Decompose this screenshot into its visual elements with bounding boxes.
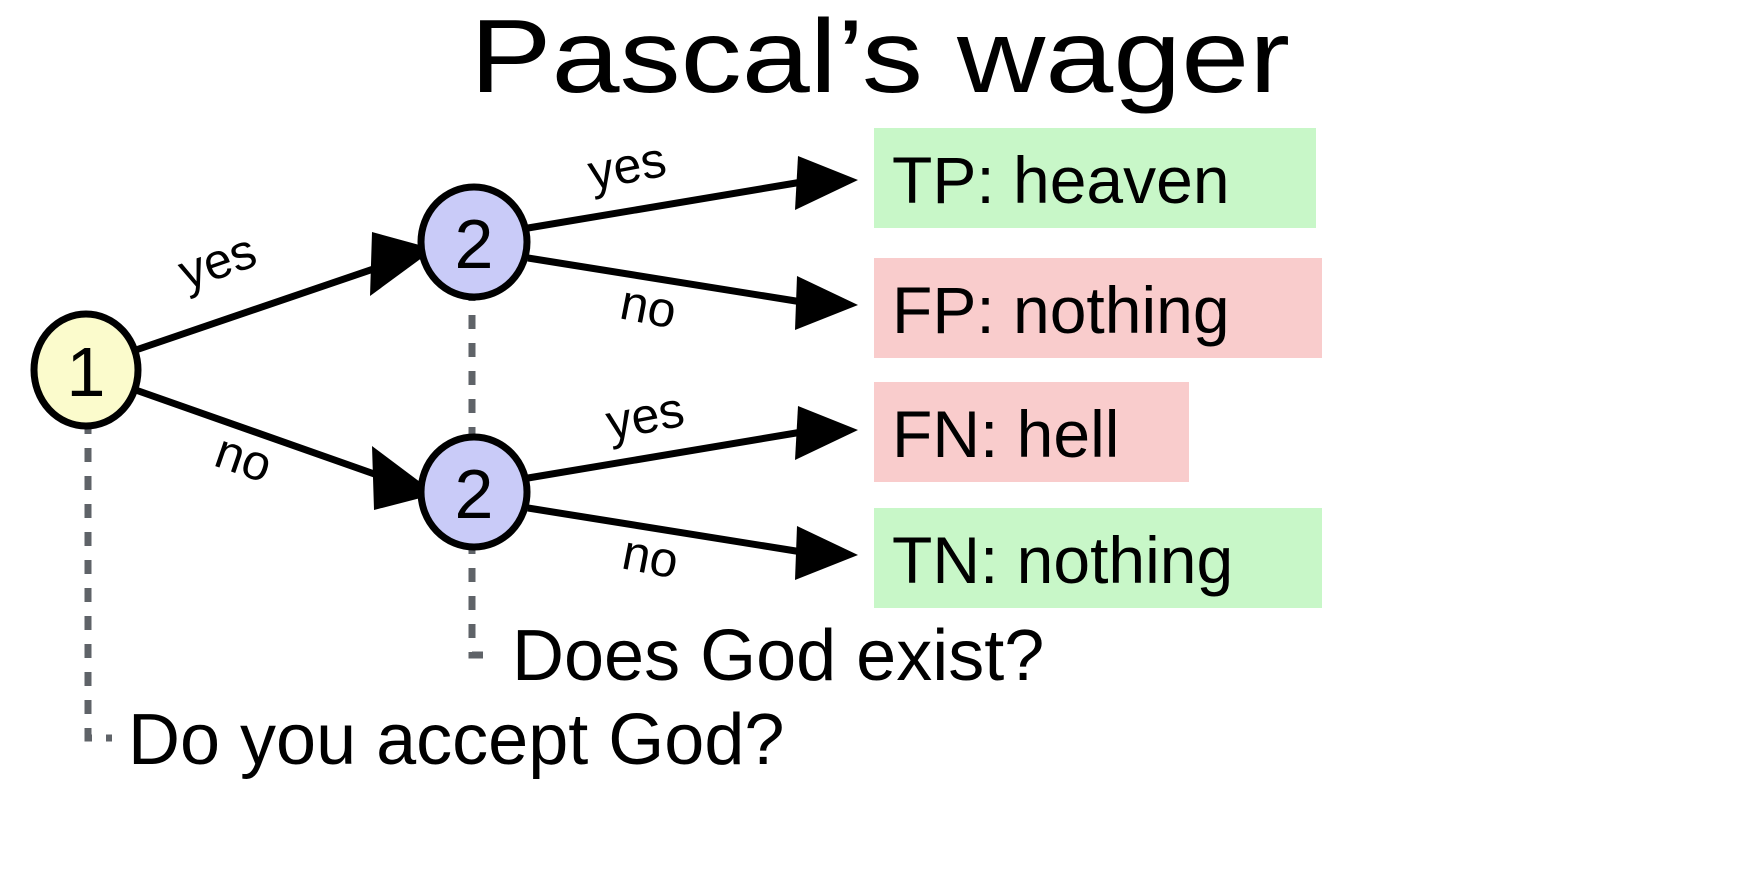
outcome-tp[interactable]: TP: heaven xyxy=(874,128,1316,228)
diagram-canvas: Pascal’s wager yes no yes no yes n xyxy=(0,0,1760,880)
leader-line-root xyxy=(88,420,112,738)
outcome-fp[interactable]: FP: nothing xyxy=(874,258,1322,358)
edge-label-lower-no: no xyxy=(618,524,683,590)
node-root[interactable]: 1 xyxy=(34,314,138,426)
edge-label-upper-no: no xyxy=(616,274,681,340)
arrowhead-upper-no-icon xyxy=(795,276,858,330)
annotation-does-god-exist: Does God exist? xyxy=(512,616,1044,696)
node-decision-lower-label: 2 xyxy=(455,455,494,533)
node-root-label: 1 xyxy=(67,333,106,411)
outcome-tn-label: TN: nothing xyxy=(892,523,1233,597)
arrowhead-lower-yes-icon xyxy=(795,406,858,460)
arrowhead-upper-yes-icon xyxy=(795,156,858,210)
leader-line-decision-lower xyxy=(472,540,496,655)
edge-label-root-yes: yes xyxy=(171,222,263,300)
edge-label-lower-yes: yes xyxy=(601,381,688,451)
node-decision-lower[interactable]: 2 xyxy=(421,437,527,547)
outcome-fp-label: FP: nothing xyxy=(892,273,1230,347)
annotation-do-you-accept-god: Do you accept God? xyxy=(128,700,784,780)
node-decision-upper-label: 2 xyxy=(455,205,494,283)
edge-label-upper-yes: yes xyxy=(583,131,670,201)
outcome-fn-label: FN: hell xyxy=(892,397,1119,471)
edge-root-yes xyxy=(130,266,382,352)
arrowhead-lower-no-icon xyxy=(795,526,858,580)
outcome-fn[interactable]: FN: hell xyxy=(874,382,1189,482)
page-title: Pascal’s wager xyxy=(470,0,1290,115)
edge-upper-yes xyxy=(528,182,802,228)
pascals-wager-tree: Pascal’s wager yes no yes no yes n xyxy=(0,0,1760,880)
outcome-tn[interactable]: TN: nothing xyxy=(874,508,1322,608)
outcome-tp-label: TP: heaven xyxy=(892,143,1230,217)
node-decision-upper[interactable]: 2 xyxy=(421,187,527,297)
